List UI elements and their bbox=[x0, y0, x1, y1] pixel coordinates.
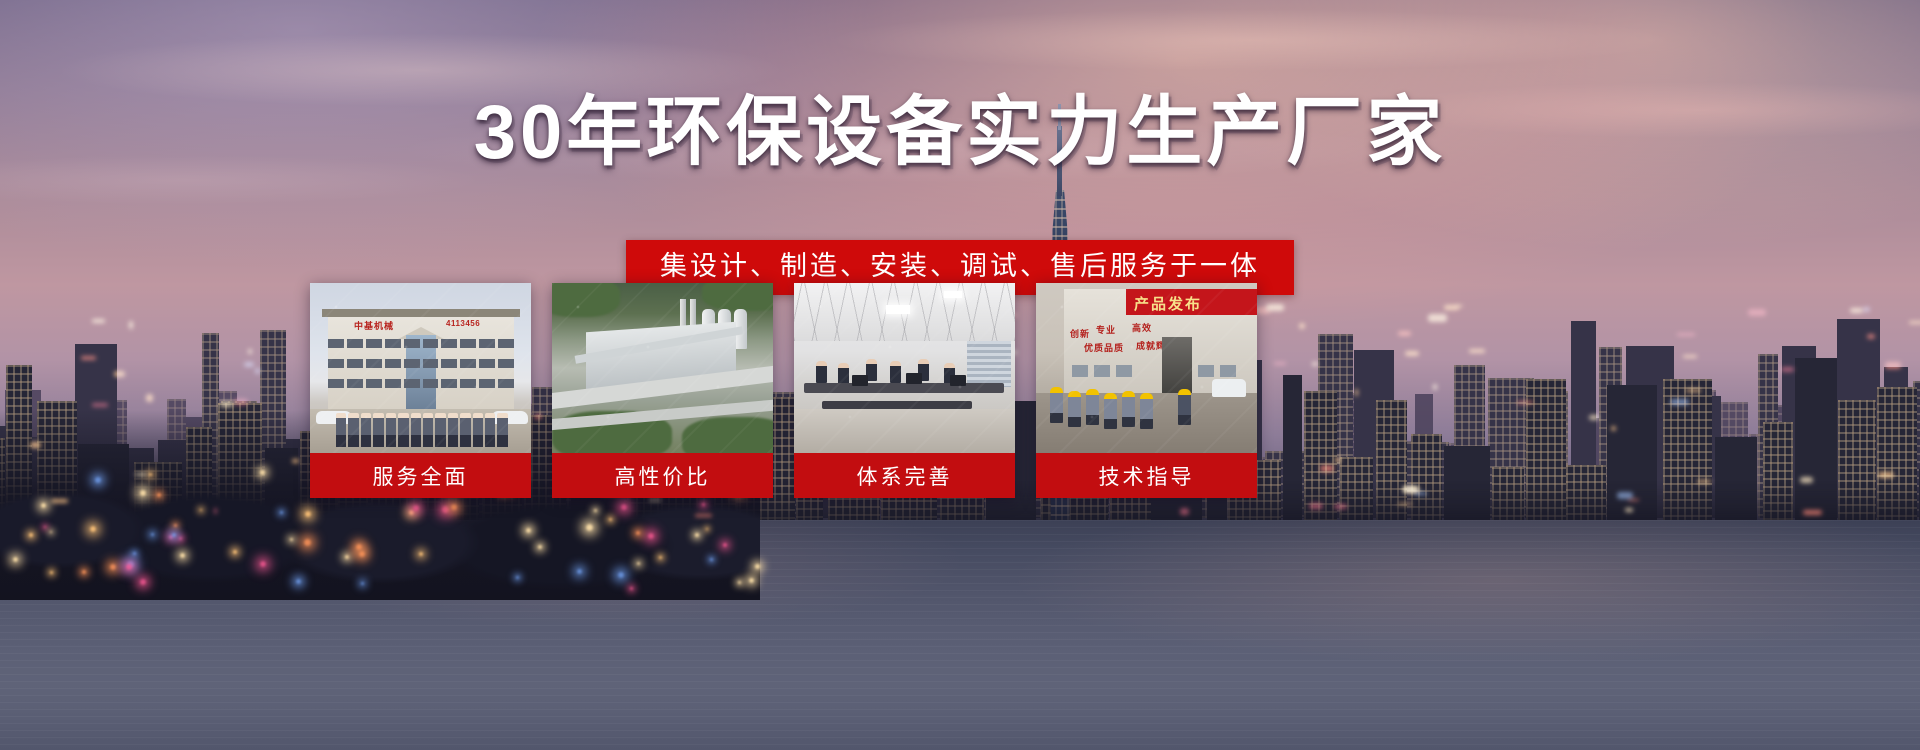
park-light bbox=[345, 555, 349, 559]
park-light bbox=[90, 526, 96, 532]
wall-slogan: 创新 bbox=[1070, 327, 1090, 340]
park-light bbox=[609, 518, 612, 521]
park-light bbox=[659, 556, 662, 559]
park-light bbox=[419, 552, 423, 556]
park-light bbox=[361, 582, 364, 585]
park-light bbox=[110, 564, 116, 570]
park-light bbox=[621, 504, 627, 510]
park-light bbox=[577, 569, 582, 574]
card-photo-office-building: 中基机械 4113456 bbox=[310, 283, 531, 453]
card-caption: 技术指导 bbox=[1036, 453, 1257, 498]
card-caption: 服务全面 bbox=[310, 453, 531, 498]
feature-card[interactable]: 中基机械 4113456 服务全面 bbox=[310, 283, 531, 498]
park-light bbox=[648, 533, 654, 539]
card-caption: 体系完善 bbox=[794, 453, 1015, 498]
park-light bbox=[749, 578, 754, 583]
park-light bbox=[304, 539, 311, 546]
park-light bbox=[95, 477, 101, 483]
park-light bbox=[442, 506, 449, 513]
park-light bbox=[140, 490, 146, 496]
park-light bbox=[44, 526, 46, 528]
wall-slogan: 优质品质 bbox=[1084, 341, 1124, 354]
park-light bbox=[149, 473, 152, 476]
feature-card[interactable]: 体系完善 bbox=[794, 283, 1015, 498]
park-light bbox=[630, 587, 633, 590]
factory-banner-text: 产品发布 bbox=[1134, 293, 1202, 314]
feature-card[interactable]: 高性价比 bbox=[552, 283, 773, 498]
park-light bbox=[41, 503, 46, 508]
park-light bbox=[409, 510, 414, 515]
park-light bbox=[200, 509, 202, 511]
park-light bbox=[695, 533, 699, 537]
card-photo-industrial-plant bbox=[552, 283, 773, 453]
factory-wall-banner: 产品发布 bbox=[1126, 289, 1257, 315]
card-photo-factory-workers: 产品发布 创新 专业 高效 优质品质 成就辉煌 bbox=[1036, 283, 1257, 453]
card-photo-office-interior bbox=[794, 283, 1015, 453]
park-light bbox=[413, 505, 419, 511]
park-light bbox=[538, 545, 542, 549]
park-light bbox=[174, 524, 177, 527]
park-light bbox=[13, 557, 18, 562]
park-light bbox=[526, 528, 531, 533]
feature-card[interactable]: 产品发布 创新 专业 高效 优质品质 成就辉煌 bbox=[1036, 283, 1257, 498]
park-light bbox=[126, 564, 132, 570]
park-light bbox=[723, 543, 727, 547]
park-light bbox=[82, 570, 86, 574]
park-light bbox=[636, 531, 640, 535]
park-light bbox=[296, 579, 301, 584]
park-light bbox=[260, 470, 265, 475]
park-light bbox=[29, 533, 33, 537]
park-light bbox=[702, 503, 705, 506]
park-light bbox=[706, 528, 708, 530]
feature-card-list: 中基机械 4113456 服务全面 bbox=[310, 283, 1560, 498]
park-light bbox=[359, 551, 365, 557]
building-signage: 中基机械 bbox=[354, 319, 394, 332]
park-light bbox=[305, 511, 311, 517]
park-light bbox=[290, 538, 293, 541]
park-light bbox=[710, 558, 713, 561]
park-light bbox=[260, 561, 266, 567]
park-light bbox=[637, 562, 640, 565]
park-light bbox=[594, 509, 597, 512]
hero-banner: 30年环保设备实力生产厂家 集设计、制造、安装、调试、售后服务于一体 中基机械 … bbox=[0, 0, 1920, 750]
park-light bbox=[180, 553, 185, 558]
park-light bbox=[172, 533, 176, 537]
park-light bbox=[738, 581, 741, 584]
park-light bbox=[50, 531, 52, 533]
wall-slogan: 高效 bbox=[1132, 321, 1152, 334]
park-light bbox=[140, 579, 146, 585]
park-light bbox=[233, 550, 237, 554]
wall-slogan: 专业 bbox=[1096, 323, 1116, 336]
park-light bbox=[516, 576, 519, 579]
park-light bbox=[755, 564, 760, 569]
park-light bbox=[451, 504, 457, 510]
card-caption: 高性价比 bbox=[552, 453, 773, 498]
park-light bbox=[586, 524, 593, 531]
park-light bbox=[356, 544, 362, 550]
park-light bbox=[157, 493, 161, 497]
building-phone-number: 4113456 bbox=[446, 319, 480, 328]
park-light bbox=[50, 571, 53, 574]
park-light bbox=[618, 572, 624, 578]
park-light bbox=[151, 533, 154, 536]
park-light bbox=[280, 511, 283, 514]
park-light bbox=[133, 552, 136, 555]
page-title: 30年环保设备实力生产厂家 bbox=[0, 95, 1920, 171]
park-light bbox=[179, 537, 182, 540]
